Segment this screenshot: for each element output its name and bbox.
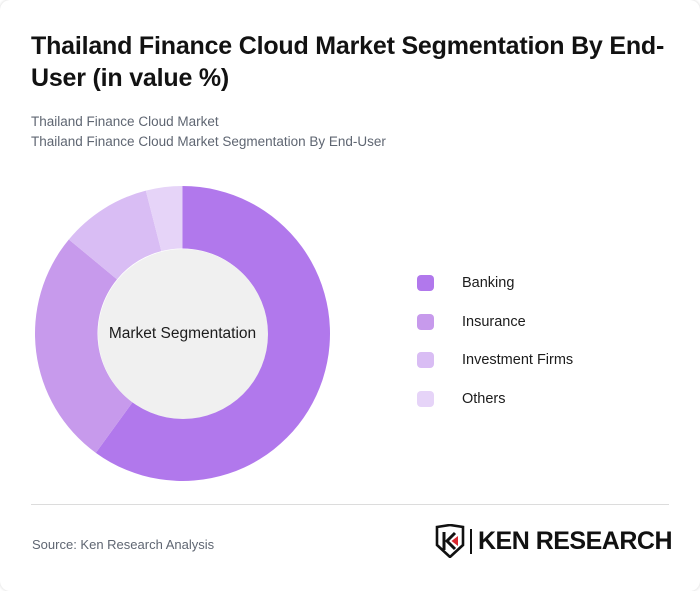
legend-item-label: Investment Firms [462, 352, 573, 368]
source-note: Source: Ken Research Analysis [32, 537, 214, 552]
page-title: Thailand Finance Cloud Market Segmentati… [31, 30, 671, 94]
logo-wordmark: KEN RESEARCH [478, 527, 672, 556]
subtitle-block: Thailand Finance Cloud Market Thailand F… [31, 112, 651, 152]
footer-divider [31, 504, 669, 505]
chart-legend: BankingInsuranceInvestment FirmsOthers [417, 264, 657, 418]
legend-item-investment-firms[interactable]: Investment Firms [417, 341, 657, 380]
legend-item-label: Insurance [462, 314, 526, 330]
chart-card: Thailand Finance Cloud Market Segmentati… [0, 0, 700, 591]
legend-swatch-icon [417, 275, 434, 291]
subtitle-segmentation: Thailand Finance Cloud Market Segmentati… [31, 132, 651, 152]
chart-card-inner: Thailand Finance Cloud Market Segmentati… [0, 0, 700, 591]
donut-hole: Market Segmentation [98, 249, 268, 419]
ken-research-shield-k-logo [435, 524, 465, 558]
subtitle-market: Thailand Finance Cloud Market [31, 112, 651, 132]
legend-item-banking[interactable]: Banking [417, 264, 657, 303]
ken-research-logo: KEN RESEARCH [435, 524, 672, 558]
legend-item-label: Others [462, 391, 506, 407]
logo-divider-bar [470, 529, 472, 554]
donut-center-label: Market Segmentation [109, 325, 256, 343]
donut-chart: Market Segmentation [35, 186, 330, 481]
legend-item-label: Banking [462, 275, 514, 291]
legend-swatch-icon [417, 391, 434, 407]
legend-item-others[interactable]: Others [417, 380, 657, 419]
legend-item-insurance[interactable]: Insurance [417, 303, 657, 342]
legend-swatch-icon [417, 314, 434, 330]
legend-swatch-icon [417, 352, 434, 368]
